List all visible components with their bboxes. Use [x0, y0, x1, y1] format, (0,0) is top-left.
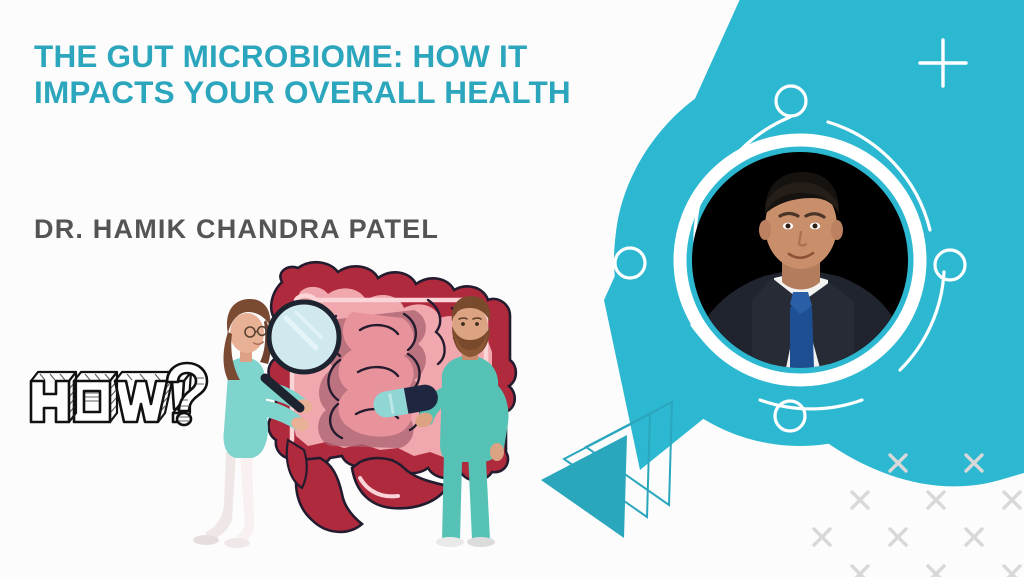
- how-question-graphic: [0, 0, 1024, 577]
- poster-canvas: THE GUT MICROBIOME: HOW IT IMPACTS YOUR …: [0, 0, 1024, 577]
